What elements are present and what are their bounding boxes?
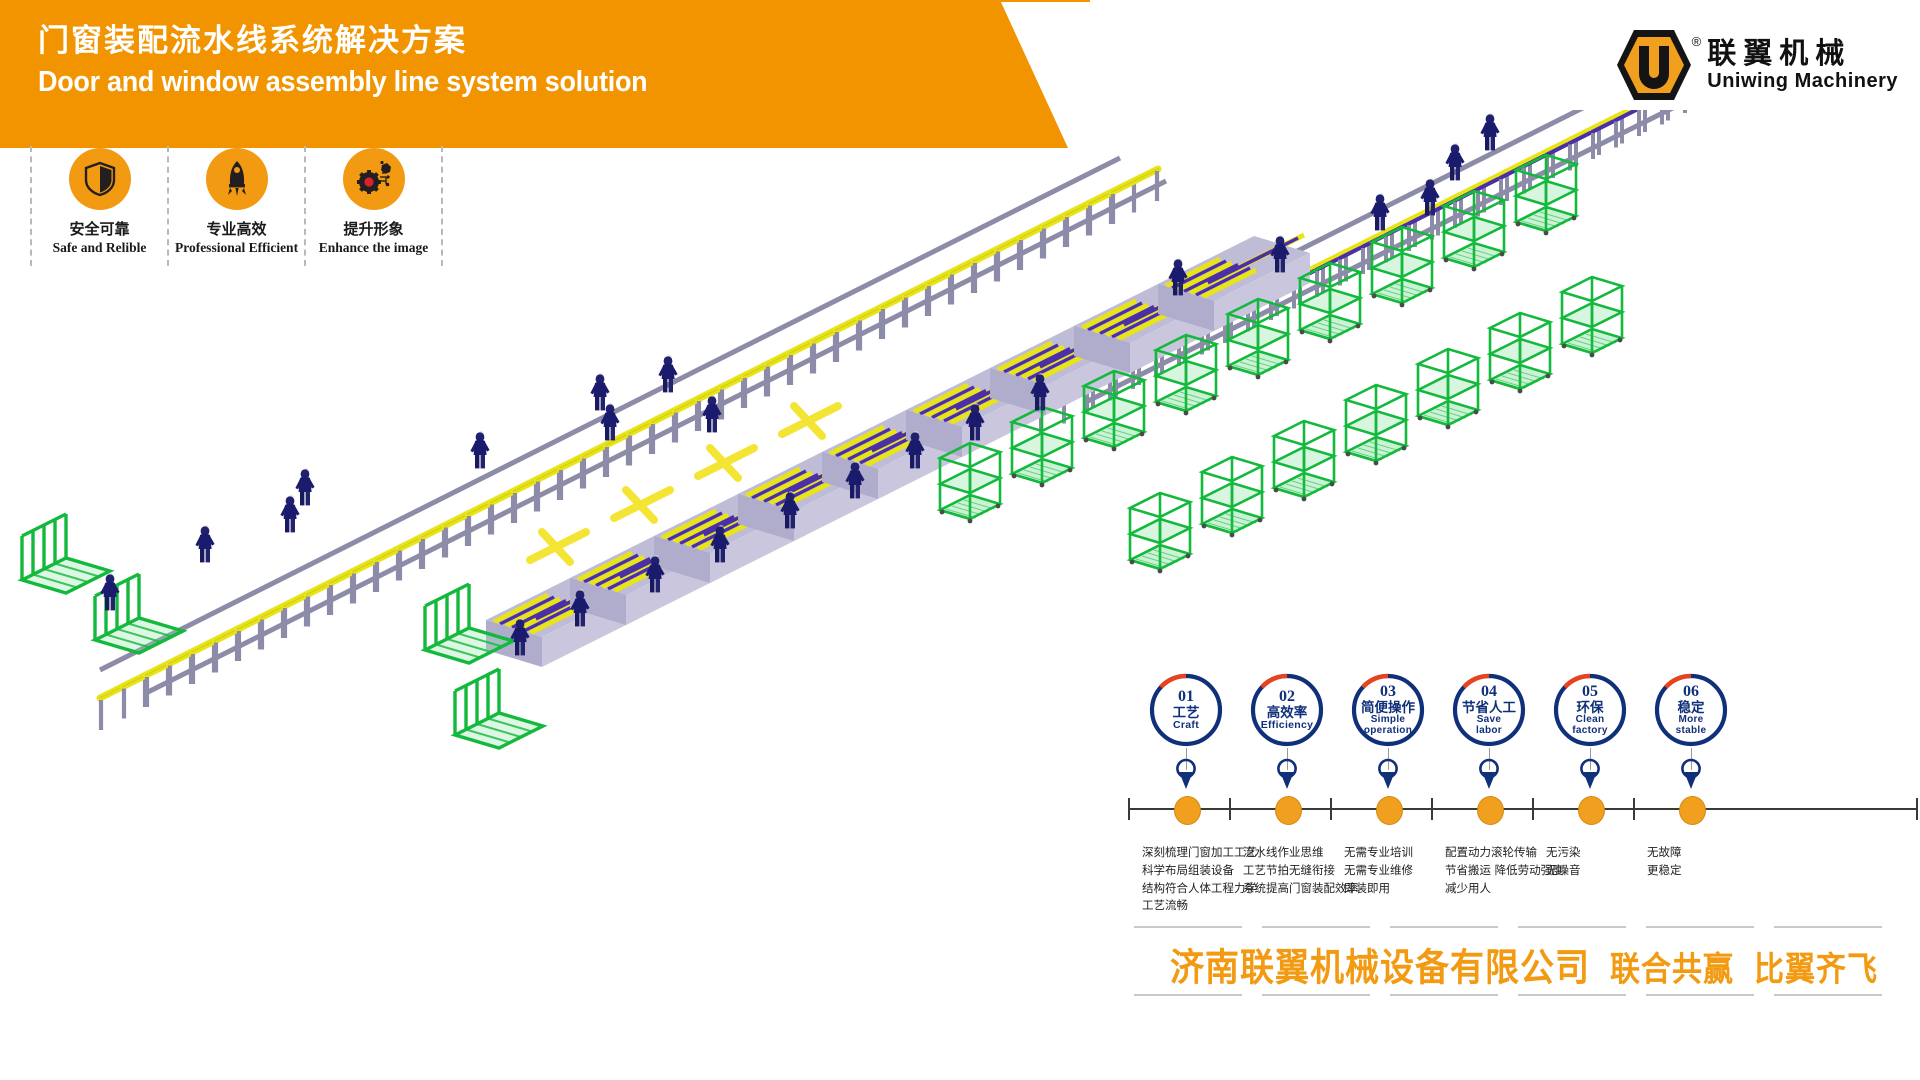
feature-desc-02: 流水线作业思维工艺节拍无缝衔接系统提高门窗装配效率 <box>1243 844 1358 897</box>
logo-name-en: Uniwing Machinery <box>1707 71 1898 91</box>
page-title-en: Door and window assembly line system sol… <box>38 66 875 99</box>
line-worker <box>280 495 299 532</box>
timeline-dot[interactable] <box>1376 796 1403 825</box>
desc-line: 工艺节拍无缝衔接 <box>1243 862 1358 880</box>
conveyor-middle <box>100 158 1166 730</box>
feature-desc-05: 无污染无噪音 <box>1546 844 1581 880</box>
feature-title-en: Simpleoperation <box>1364 715 1412 736</box>
footer-separator-top <box>1124 926 1914 928</box>
feature-circles-row: 01工艺Craft02高效率Efficiency03简便操作Simpleoper… <box>1128 672 1918 768</box>
feature-circle-text: 01工艺Craft <box>1148 672 1224 748</box>
material-cart <box>1228 299 1289 379</box>
line-worker <box>295 468 314 505</box>
desc-line: 流水线作业思维 <box>1243 844 1358 862</box>
map-pin-icon <box>1579 758 1601 794</box>
material-cart <box>1346 385 1407 465</box>
separator-segment <box>1262 994 1370 996</box>
window-frame-crosspiece <box>614 490 670 520</box>
feature-number: 06 <box>1683 684 1699 701</box>
map-pin-icon <box>1478 758 1500 794</box>
separator-segment <box>1134 994 1242 996</box>
feature-desc-01: 深刻梳理门窗加工工艺科学布局组装设备结构符合人体工程力学工艺流畅 <box>1142 844 1257 915</box>
material-cart <box>1516 155 1577 235</box>
feature-number: 02 <box>1279 689 1295 706</box>
feature-title-cn: 简便操作 <box>1361 701 1415 715</box>
desc-line: 即装即用 <box>1344 880 1413 898</box>
logo-wordmark: 联翼机械 Uniwing Machinery <box>1707 39 1898 91</box>
material-cart <box>1156 335 1217 415</box>
desc-line: 无需专业维修 <box>1344 862 1413 880</box>
timeline-dot[interactable] <box>1174 796 1201 825</box>
material-cart <box>1562 277 1623 357</box>
feature-circle-text: 02高效率Efficiency <box>1249 672 1325 748</box>
map-pin-icon <box>1377 758 1399 794</box>
map-pin-icon <box>1175 758 1197 794</box>
logo-name-cn: 联翼机械 <box>1707 39 1898 68</box>
feature-desc-03: 无需专业培训无需专业维修即装即用 <box>1344 844 1413 897</box>
material-cart <box>940 443 1001 523</box>
map-pin-icon <box>1276 758 1298 794</box>
window-frame-crosspiece <box>782 406 838 436</box>
map-pin-icon <box>1680 758 1702 794</box>
separator-segment <box>1390 926 1498 928</box>
hexagon-u-logo-icon: ® <box>1615 26 1693 104</box>
feature-descriptions: 深刻梳理门窗加工工艺科学布局组装设备结构符合人体工程力学工艺流畅流水线作业思维工… <box>1128 844 1918 944</box>
separator-segment <box>1518 994 1626 996</box>
material-cart <box>1418 349 1479 429</box>
separator-segment <box>1390 994 1498 996</box>
conveyor-bay <box>1684 110 1738 113</box>
feature-desc-06: 无故障更稳定 <box>1647 844 1682 880</box>
axis-tick <box>1229 798 1231 820</box>
window-frame-crosspiece <box>530 532 586 562</box>
feature-circle-text: 06稳定Morestable <box>1653 672 1729 748</box>
feature-circle-06[interactable]: 06稳定Morestable <box>1653 672 1729 748</box>
feature-title-en: Savelabor <box>1476 715 1502 736</box>
timeline-axis <box>1128 808 1918 810</box>
a-frame-rack <box>22 514 110 593</box>
desc-line: 更稳定 <box>1647 862 1682 880</box>
axis-tick <box>1532 798 1534 820</box>
feature-circle-03[interactable]: 03简便操作Simpleoperation <box>1350 672 1426 748</box>
timeline-dot[interactable] <box>1275 796 1302 825</box>
separator-segment <box>1774 926 1882 928</box>
feature-title-en: Efficiency <box>1261 720 1314 731</box>
feature-number: 01 <box>1178 689 1194 706</box>
separator-segment <box>1646 994 1754 996</box>
timeline-dot[interactable] <box>1679 796 1706 825</box>
timeline-dot[interactable] <box>1578 796 1605 825</box>
material-cart <box>1490 313 1551 393</box>
axis-tick <box>1633 798 1635 820</box>
header-title-block: 门窗装配流水线系统解决方案 Door and window assembly l… <box>38 22 938 99</box>
desc-line: 结构符合人体工程力学 <box>1142 880 1257 898</box>
company-name: 济南联翼机械设备有限公司 <box>1170 937 1590 992</box>
material-cart <box>1012 407 1073 487</box>
line-worker <box>1370 193 1389 230</box>
page-title-cn: 门窗装配流水线系统解决方案 <box>38 22 938 61</box>
feature-title-en: Craft <box>1173 720 1199 731</box>
feature-circle-05[interactable]: 05环保Cleanfactory <box>1552 672 1628 748</box>
line-worker <box>1480 113 1499 150</box>
feature-circle-text: 03简便操作Simpleoperation <box>1350 672 1426 748</box>
material-cart <box>1130 493 1191 573</box>
brand-logo: ® 联翼机械 Uniwing Machinery <box>1615 26 1898 104</box>
desc-line: 深刻梳理门窗加工工艺 <box>1142 844 1257 862</box>
footer-separator-bottom <box>1124 994 1914 996</box>
desc-line: 工艺流畅 <box>1142 897 1257 915</box>
feature-title-cn: 稳定 <box>1678 701 1705 715</box>
material-cart <box>1274 421 1335 501</box>
feature-number: 03 <box>1380 684 1396 701</box>
desc-line: 无故障 <box>1647 844 1682 862</box>
a-frame-rack <box>455 669 543 748</box>
separator-segment <box>1774 994 1882 996</box>
axis-tick <box>1330 798 1332 820</box>
feature-circle-04[interactable]: 04节省人工Savelabor <box>1451 672 1527 748</box>
axis-tick <box>1431 798 1433 820</box>
feature-title-cn: 环保 <box>1577 701 1604 715</box>
feature-title-cn: 高效率 <box>1267 706 1308 720</box>
feature-circle-02[interactable]: 02高效率Efficiency <box>1249 672 1325 748</box>
registered-trademark-icon: ® <box>1692 34 1702 49</box>
footer-company-block: 济南联翼机械设备有限公司 联合共赢 比翼齐飞 <box>1124 940 1920 989</box>
feature-circle-text: 04节省人工Savelabor <box>1451 672 1527 748</box>
line-worker <box>195 525 214 562</box>
axis-tick <box>1916 798 1918 820</box>
material-cart <box>1444 191 1505 271</box>
separator-segment <box>1134 926 1242 928</box>
material-cart <box>1084 371 1145 451</box>
axis-tick <box>1128 798 1130 820</box>
desc-line: 减少用人 <box>1445 880 1564 898</box>
separator-segment <box>1518 926 1626 928</box>
feature-number: 05 <box>1582 684 1598 701</box>
company-slogan-1: 联合共赢 <box>1610 941 1734 990</box>
material-cart <box>1300 263 1361 343</box>
material-cart <box>1372 227 1433 307</box>
company-slogan-2: 比翼齐飞 <box>1754 941 1878 990</box>
timeline-dot[interactable] <box>1477 796 1504 825</box>
separator-segment <box>1262 926 1370 928</box>
window-frame-crosspiece <box>698 448 754 478</box>
feature-title-en: Morestable <box>1676 715 1707 736</box>
desc-line: 无需专业培训 <box>1344 844 1413 862</box>
company-line: 济南联翼机械设备有限公司 联合共赢 比翼齐飞 <box>1124 940 1920 989</box>
material-cart <box>1202 457 1263 537</box>
feature-circle-text: 05环保Cleanfactory <box>1552 672 1628 748</box>
line-worker <box>470 431 489 468</box>
line-worker <box>590 373 609 410</box>
desc-line: 无污染 <box>1546 844 1581 862</box>
feature-title-en: Cleanfactory <box>1572 715 1607 736</box>
feature-circle-01[interactable]: 01工艺Craft <box>1148 672 1224 748</box>
desc-line: 无噪音 <box>1546 862 1581 880</box>
feature-timeline: 01工艺Craft02高效率Efficiency03简便操作Simpleoper… <box>1128 672 1918 1012</box>
separator-segment <box>1646 926 1754 928</box>
feature-title-cn: 节省人工 <box>1462 701 1516 715</box>
desc-line: 系统提高门窗装配效率 <box>1243 880 1358 898</box>
feature-title-cn: 工艺 <box>1173 706 1200 720</box>
desc-line: 科学布局组装设备 <box>1142 862 1257 880</box>
feature-number: 04 <box>1481 684 1497 701</box>
